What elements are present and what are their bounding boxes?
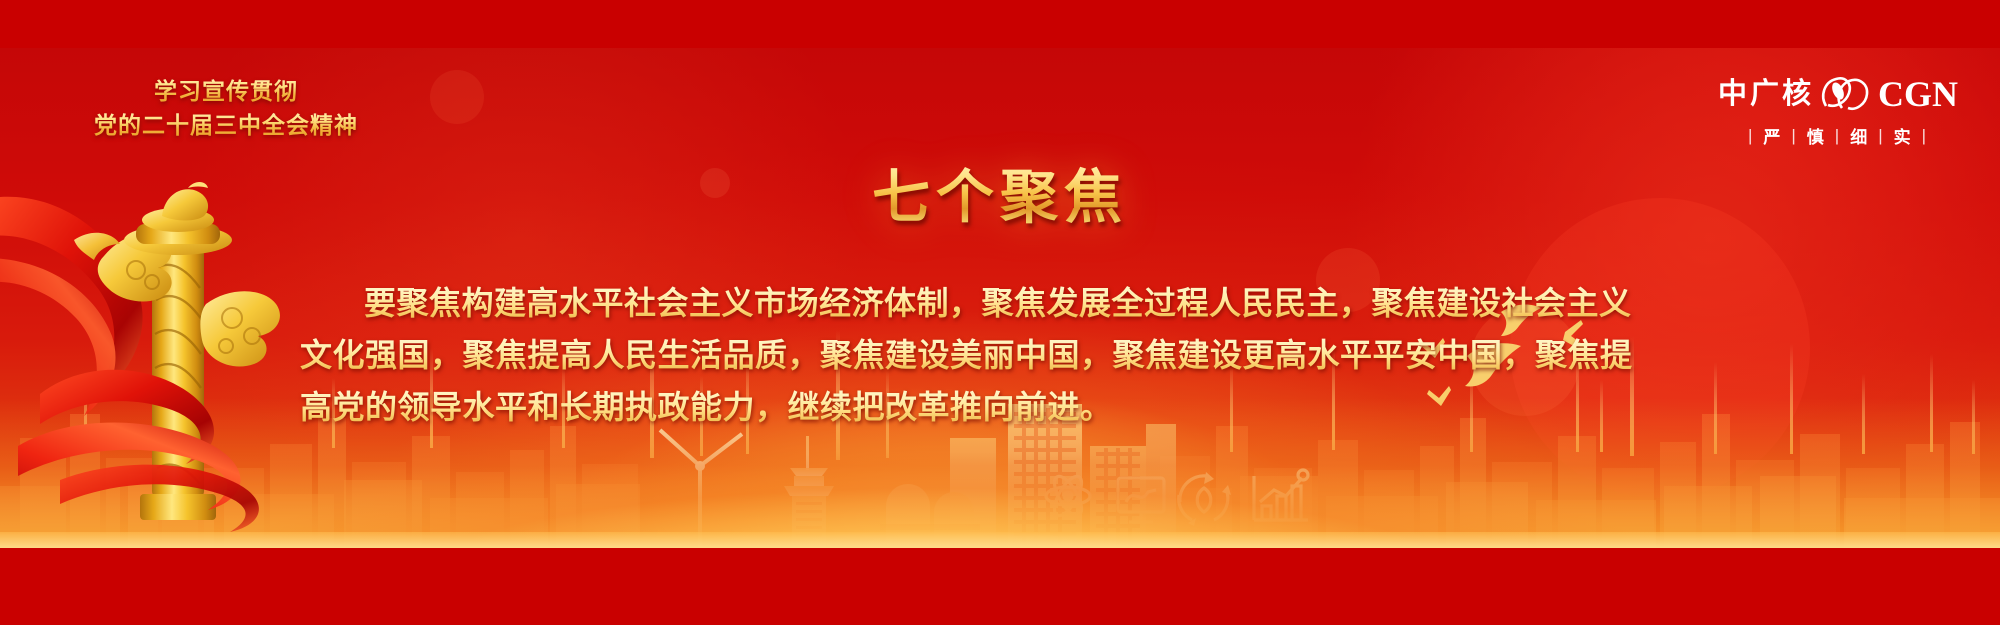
frame-top-band	[0, 0, 2000, 48]
cgn-logo-english: CGN	[1878, 76, 1958, 112]
page-title-text: 七个聚焦	[872, 150, 1128, 234]
huabiao-cloud-right	[200, 291, 280, 366]
frame-bottom-band	[0, 548, 2000, 625]
cgn-tagline: | 严 | 慎 | 细 | 实 |	[1718, 123, 1958, 148]
tagline-char-2: 慎	[1807, 123, 1826, 148]
tagline-separator-2: |	[1835, 126, 1841, 146]
cgn-logo-row: 中广核 CGN	[1718, 74, 1958, 114]
page-title: 七个聚焦	[0, 150, 2000, 234]
banner-root: 学习宣传贯彻 党的二十届三中全会精神 七个聚焦 要聚焦构建高水平社会主义市场经济…	[0, 0, 2000, 625]
tagline-char-3: 细	[1850, 123, 1869, 148]
tagline-separator-3: |	[1878, 126, 1884, 146]
tagline-separator-1: |	[1791, 126, 1797, 146]
banner-artwork: 学习宣传贯彻 党的二十届三中全会精神 七个聚焦 要聚焦构建高水平社会主义市场经济…	[0, 48, 2000, 548]
body-line-1: 要聚焦构建高水平社会主义市场经济体制，聚焦发展全过程人民民主，聚焦建设社会主义	[300, 278, 1700, 330]
red-silk-ribbon-front	[18, 370, 259, 532]
huabiao-base	[140, 494, 216, 520]
tagline-char-1: 严	[1763, 123, 1782, 148]
body-copy: 要聚焦构建高水平社会主义市场经济体制，聚焦发展全过程人民民主，聚焦建设社会主义 …	[300, 278, 1700, 433]
slogan-line-2: 党的二十届三中全会精神	[86, 108, 366, 142]
body-line-3: 高党的领导水平和长期执政能力，继续把改革推向前进。	[300, 382, 1700, 434]
cgn-logo-chinese: 中广核	[1718, 80, 1814, 109]
tagline-separator-4: |	[1922, 126, 1928, 146]
slogan-block: 学习宣传贯彻 党的二十届三中全会精神	[86, 74, 366, 142]
cgn-swirl-icon	[1818, 74, 1874, 114]
body-line-2: 文化强国，聚焦提高人民生活品质，聚焦建设美丽中国，聚焦建设更高水平平安中国，聚焦…	[300, 330, 1700, 382]
tagline-char-4: 实	[1894, 123, 1913, 148]
cgn-logo: 中广核 CGN | 严 | 慎 | 细 | 实 |	[1718, 74, 1958, 148]
slogan-line-1: 学习宣传贯彻	[86, 74, 366, 108]
decor-circle-tiny-left	[430, 70, 484, 124]
tagline-separator-0: |	[1748, 126, 1754, 146]
body-line-1-text: 要聚焦构建高水平社会主义市场经济体制，聚焦发展全过程人民民主，聚焦建设社会主义	[364, 285, 1632, 321]
